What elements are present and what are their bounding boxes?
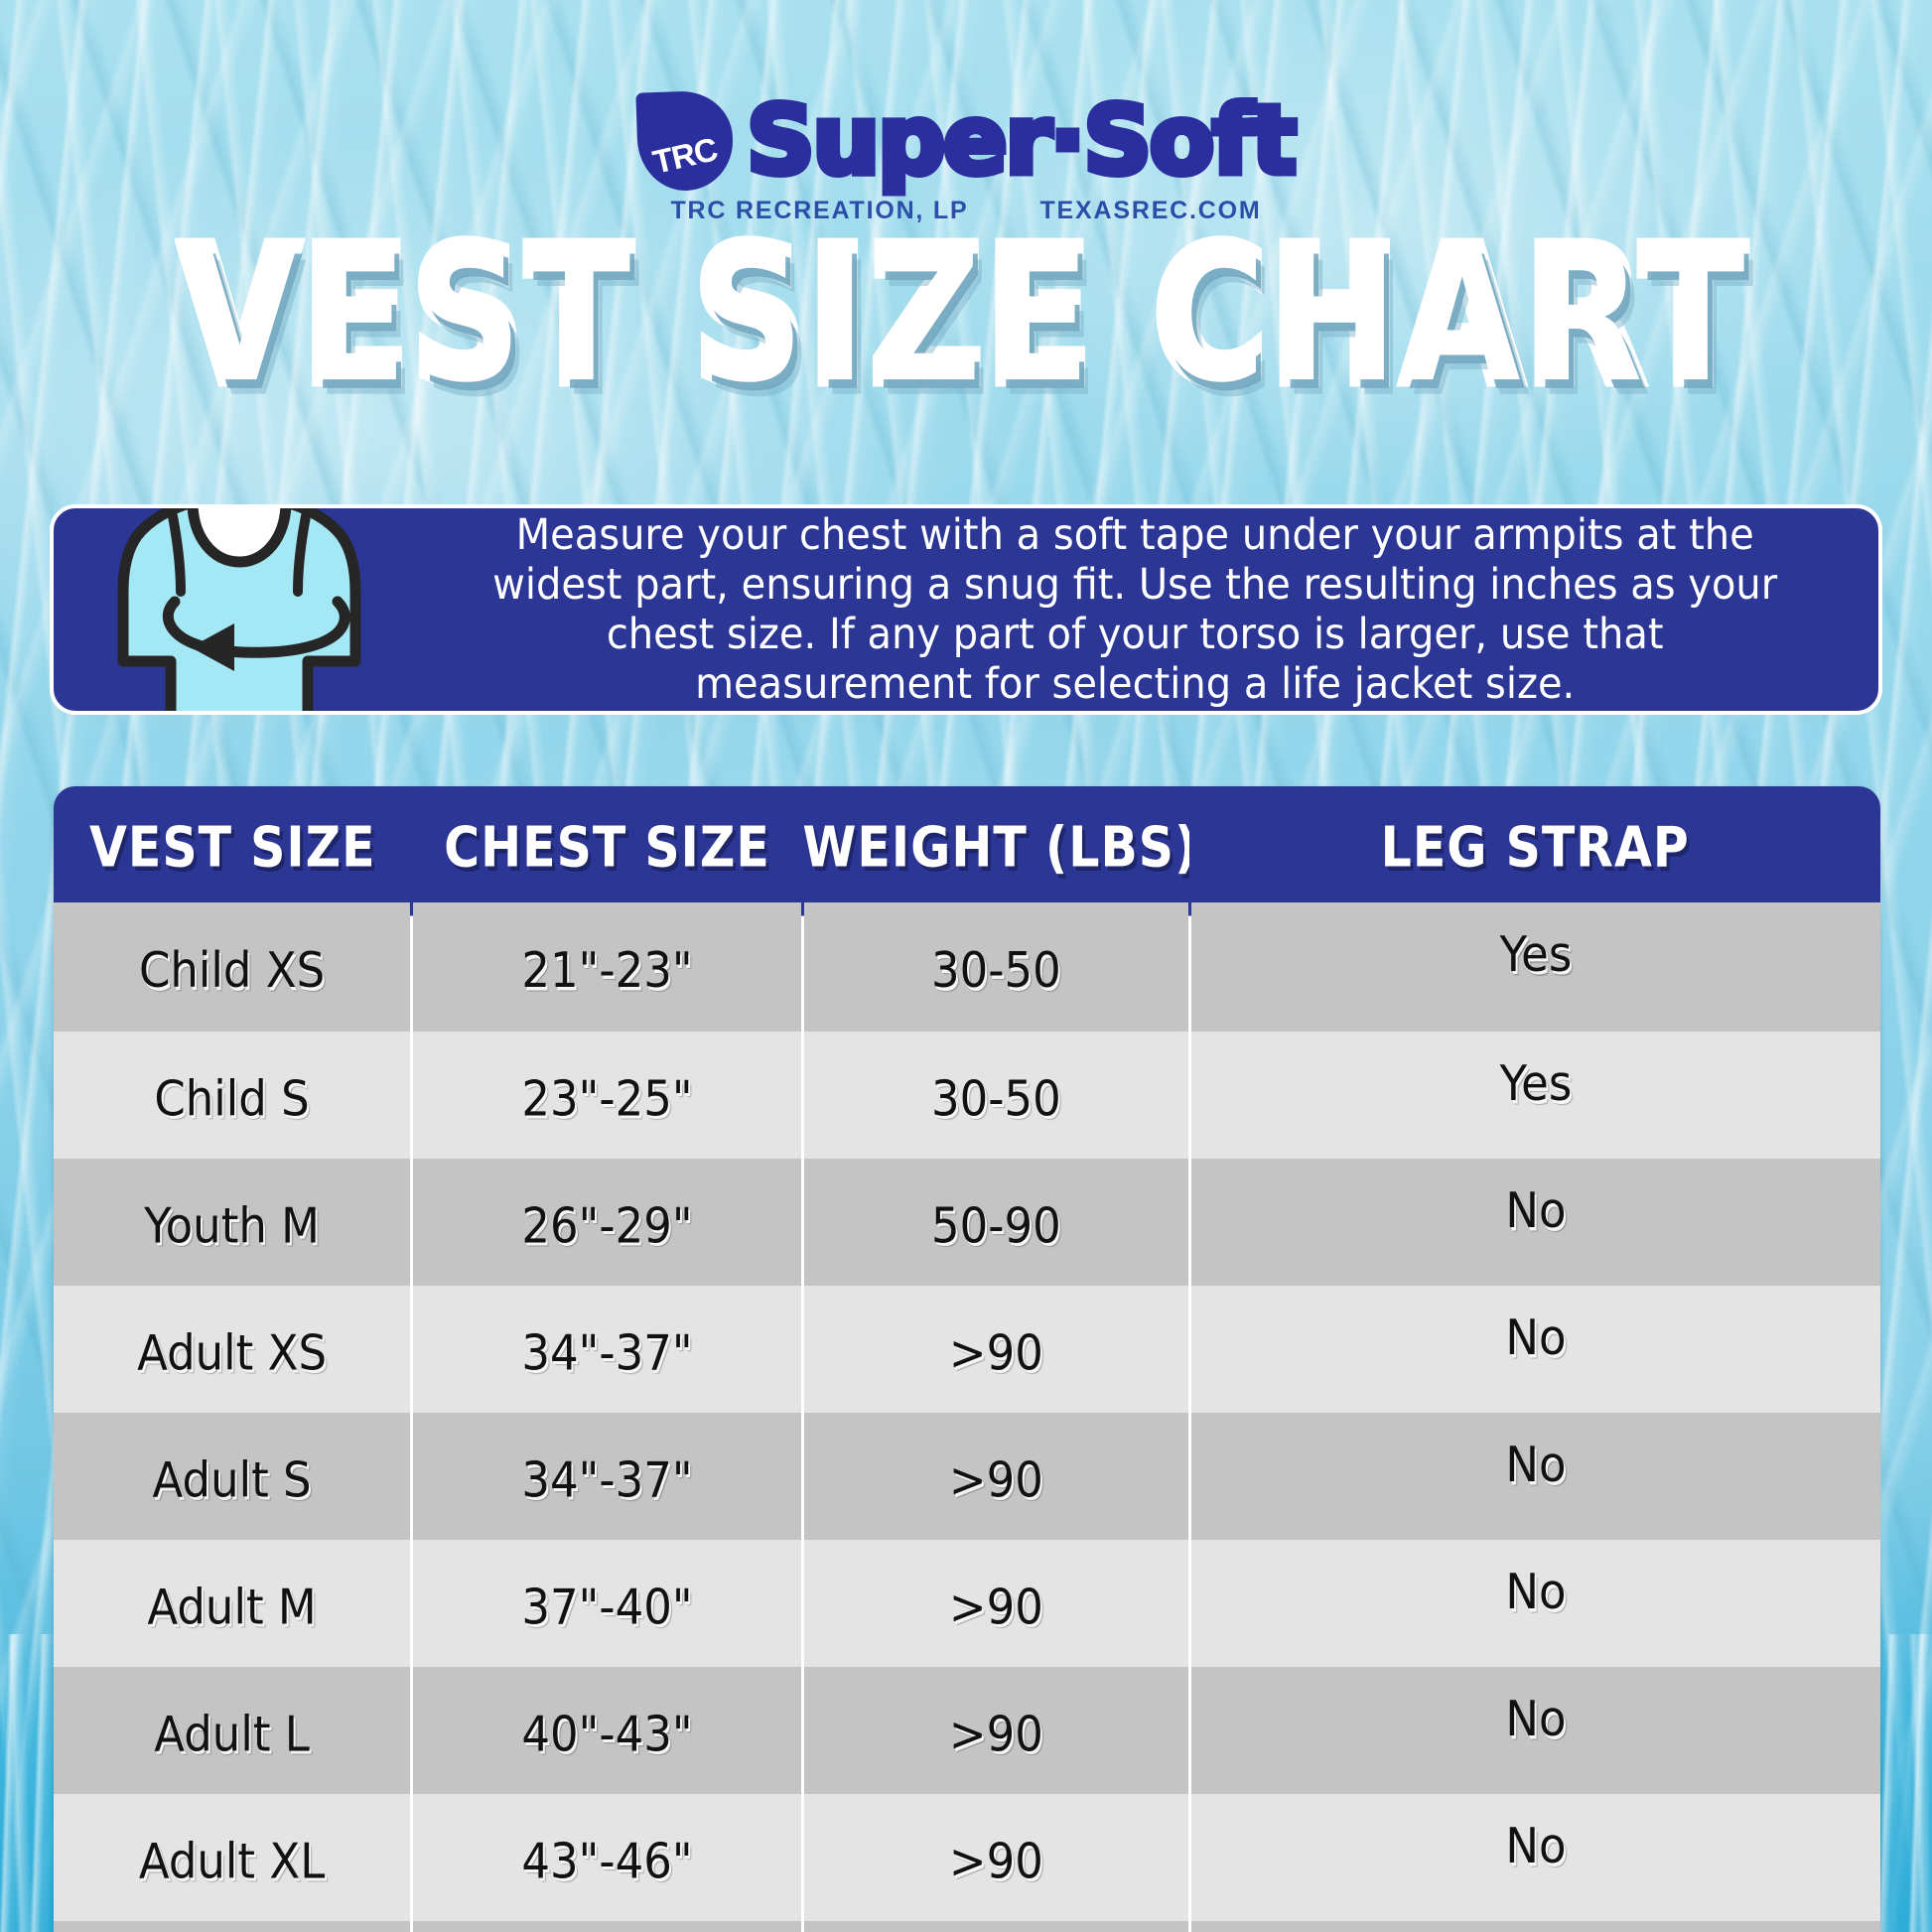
table-row: Child S23"-25"30-50Yes (54, 1035, 1880, 1162)
cell-leg-strap: Yes (1189, 902, 1880, 1039)
instruction-text: Measure your chest with a soft tape unde… (474, 510, 1827, 709)
table-row: Adult S34"-37">90No (54, 1416, 1880, 1543)
cell-leg-strap: No (1189, 1157, 1880, 1294)
table-header: VEST SIZE CHEST SIZE WEIGHT (LBS) LEG ST… (54, 786, 1880, 907)
column-header-leg-strap: LEG STRAP (1189, 786, 1880, 916)
cell-weight: >90 (802, 1919, 1189, 1932)
cell-weight: >90 (802, 1411, 1189, 1548)
wordmark: Super·Soft (747, 94, 1295, 189)
cell-leg-strap: No (1189, 1284, 1880, 1421)
cell-chest-size: 34"-37" (412, 1284, 803, 1421)
cell-vest-size: Adult S (54, 1411, 412, 1548)
cell-chest-size: 43"-46" (412, 1792, 803, 1929)
cell-chest-size: 46"-48" (412, 1919, 803, 1932)
cell-chest-size: 21"-23" (412, 902, 803, 1039)
cell-weight: 30-50 (802, 1030, 1189, 1167)
cell-vest-size: Adult XL (54, 1792, 412, 1929)
cell-weight: >90 (802, 1792, 1189, 1929)
table-row: Adult XS34"-37">90No (54, 1289, 1880, 1416)
water-droplet-icon: TRC (637, 91, 733, 191)
cell-vest-size: Adult L (54, 1665, 412, 1802)
cell-leg-strap: No (1189, 1665, 1880, 1802)
cell-weight: 50-90 (802, 1157, 1189, 1294)
table-body: Child XS21"-23"30-50YesChild S23"-25"30-… (54, 907, 1880, 1932)
table-row: Youth M26"-29"50-90No (54, 1162, 1880, 1289)
column-header-chest-size: CHEST SIZE (412, 786, 803, 916)
cell-vest-size: Child S (54, 1030, 412, 1167)
table-header-row: VEST SIZE CHEST SIZE WEIGHT (LBS) LEG ST… (54, 786, 1880, 907)
torso-measure-icon (54, 508, 423, 711)
cell-chest-size: 23"-25" (412, 1030, 803, 1167)
cell-vest-size: Youth M (54, 1157, 412, 1294)
instruction-panel: Measure your chest with a soft tape unde… (50, 504, 1882, 715)
cell-chest-size: 37"-40" (412, 1538, 803, 1675)
column-header-vest-size: VEST SIZE (54, 786, 412, 916)
cell-chest-size: 40"-43" (412, 1665, 803, 1802)
cell-chest-size: 34"-37" (412, 1411, 803, 1548)
cell-leg-strap: No (1189, 1538, 1880, 1675)
cell-weight: >90 (802, 1284, 1189, 1421)
cell-leg-strap: No (1189, 1411, 1880, 1548)
torso-svg (75, 508, 403, 711)
page-title: VEST SIZE CHART (0, 224, 1932, 408)
brand-logo: TRC Super·Soft TRC RECREATION, LP TEXASR… (0, 87, 1932, 225)
size-table-container: VEST SIZE CHEST SIZE WEIGHT (LBS) LEG ST… (54, 786, 1880, 1932)
table-row: Adult XL43"-46">90No (54, 1797, 1880, 1924)
cell-chest-size: 26"-29" (412, 1157, 803, 1294)
cell-weight: 30-50 (802, 902, 1189, 1039)
cell-vest-size: Child XS (54, 902, 412, 1039)
column-header-weight: WEIGHT (LBS) (802, 786, 1189, 916)
logo-row: TRC Super·Soft (0, 87, 1932, 195)
cell-leg-strap: No (1189, 1919, 1880, 1932)
cell-leg-strap: No (1189, 1792, 1880, 1929)
cell-leg-strap: Yes (1189, 1030, 1880, 1167)
table-row: Adult L40"-43">90No (54, 1670, 1880, 1797)
table-row: Child XS21"-23"30-50Yes (54, 907, 1880, 1035)
vest-size-table: VEST SIZE CHEST SIZE WEIGHT (LBS) LEG ST… (54, 786, 1880, 1932)
table-row: Adult XXL46"-48">90No (54, 1924, 1880, 1932)
cell-vest-size: Adult XXL (54, 1919, 412, 1932)
cell-weight: >90 (802, 1538, 1189, 1675)
cell-weight: >90 (802, 1665, 1189, 1802)
table-row: Adult M37"-40">90No (54, 1543, 1880, 1670)
cell-vest-size: Adult M (54, 1538, 412, 1675)
cell-vest-size: Adult XS (54, 1284, 412, 1421)
